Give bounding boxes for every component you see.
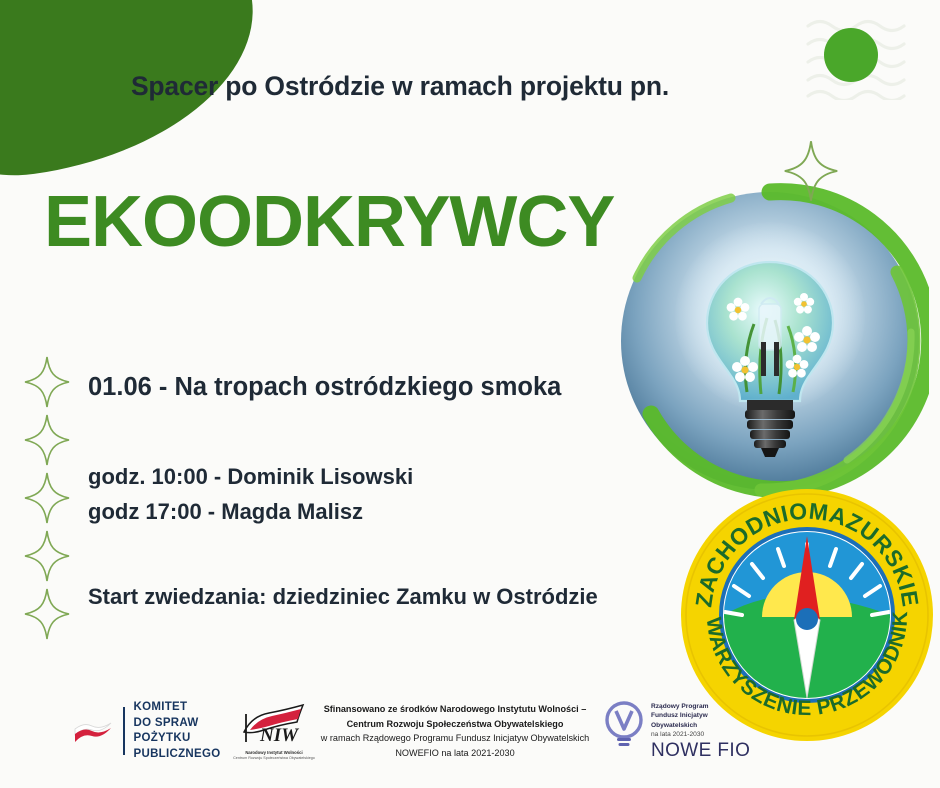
schedule-start-line: Start zwiedzania: dziedziniec Zamku w Os…: [88, 584, 688, 610]
funding-line-3: w ramach Rządowego Programu Fundusz Inic…: [318, 731, 592, 746]
fio-brand: NOWE FIO: [651, 740, 750, 762]
green-circle-decoration: [824, 28, 878, 82]
logo-niw: NIW Narodowy Instytut Wolności Centrum R…: [228, 702, 320, 761]
sparkle-icon: [24, 356, 70, 408]
funding-line-2: Centrum Rozwoju Społeczeństwa Obywatelsk…: [318, 717, 592, 732]
sparkle-icon: [24, 414, 70, 466]
fio-small-text: Rządowy Program Fundusz Inicjatyw Obywat…: [651, 700, 750, 739]
schedule-block: 01.06 - Na tropach ostródzkiego smoka go…: [88, 372, 688, 610]
funding-statement: Sfinansowano ze środków Narodowego Insty…: [318, 702, 592, 761]
green-brush-ring: [611, 182, 929, 500]
fio-small-line-4: na lata 2021-2030: [651, 730, 750, 739]
niw-subtitle-thin: Centrum Rozwoju Społeczeństwa Obywatelsk…: [233, 756, 315, 760]
niw-subtitle: Narodowy Instytut Wolności Centrum Rozwo…: [227, 750, 321, 761]
komitet-text: KOMITET DO SPRAW POŻYTKU PUBLICZNEGO: [134, 700, 221, 762]
komitet-line-0: KOMITET: [134, 700, 221, 716]
poster-canvas: Spacer po Ostródzie w ramach projektu pn…: [0, 0, 940, 788]
fio-bulb-icon: [604, 700, 644, 750]
schedule-time-1: godz 17:00 - Magda Malisz: [88, 496, 688, 528]
fio-small-line-3: Obywatelskich: [651, 721, 750, 730]
poster-title: EKOODKRYWCY: [44, 186, 614, 258]
komitet-line-2: POŻYTKU: [134, 731, 221, 747]
niw-flag-icon: NIW: [230, 702, 318, 744]
svg-text:NIW: NIW: [259, 725, 299, 744]
sparkle-icon: [24, 530, 70, 582]
funding-line-4: NOWEFIO na lata 2021-2030: [318, 746, 592, 761]
sparkle-icon: [783, 140, 839, 202]
fio-small-line-2: Fundusz Inicjatyw: [651, 711, 750, 720]
komitet-line-3: PUBLICZNEGO: [134, 747, 221, 763]
footer-logo-strip: KOMITET DO SPRAW POŻYTKU PUBLICZNEGO NIW…: [0, 694, 940, 770]
logo-nowe-fio: Rządowy Program Fundusz Inicjatyw Obywat…: [604, 700, 750, 762]
komitet-line-1: DO SPRAW: [134, 716, 221, 732]
eco-lightbulb-illustration: [611, 182, 929, 500]
polish-flag-icon: [72, 716, 114, 746]
fio-text: Rządowy Program Fundusz Inicjatyw Obywat…: [651, 700, 750, 762]
schedule-time-0: godz. 10:00 - Dominik Lisowski: [88, 461, 688, 493]
schedule-date-line: 01.06 - Na tropach ostródzkiego smoka: [88, 372, 688, 403]
poster-headline: Spacer po Ostródzie w ramach projektu pn…: [70, 68, 730, 106]
logo-divider: [123, 707, 125, 755]
logo-komitet: KOMITET DO SPRAW POŻYTKU PUBLICZNEGO: [72, 700, 221, 762]
sparkle-icon: [24, 472, 70, 524]
sparkle-decoration-column: [16, 356, 78, 640]
funding-line-1: Sfinansowano ze środków Narodowego Insty…: [318, 702, 592, 717]
sparkle-icon: [24, 588, 70, 640]
fio-small-line-1: Rządowy Program: [651, 702, 750, 711]
